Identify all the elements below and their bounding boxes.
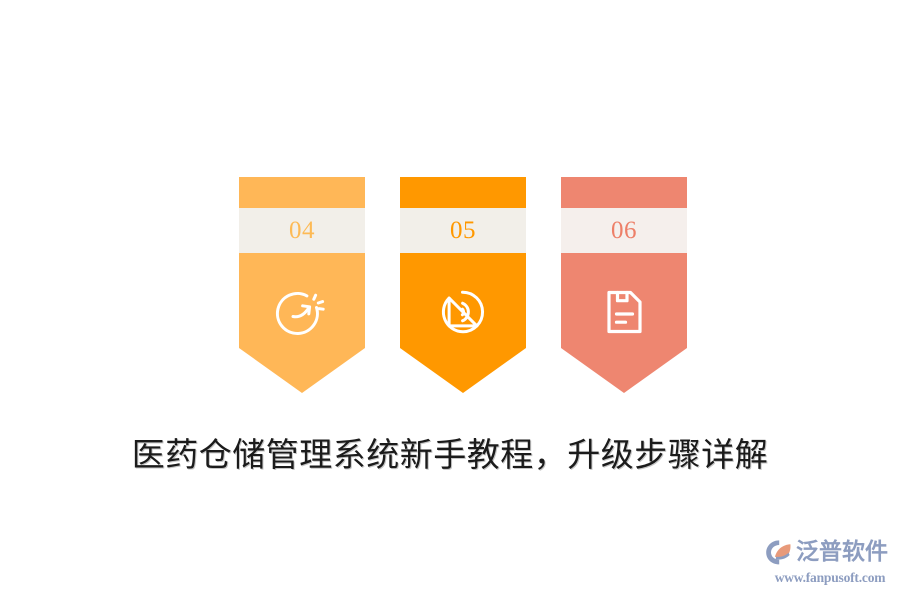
banner-number-band: 06 [561,208,687,253]
watermark-brand-row: 泛普软件 [764,536,896,568]
page-title: 医药仓储管理系统新手教程，升级步骤详解 [0,434,900,478]
watermark-brand-text: 泛普软件 [796,541,888,564]
banner-number: 04 [289,218,315,243]
document-file-icon [561,281,687,343]
banner-step-04[interactable]: 04 [239,177,365,393]
watermark: 泛普软件 www.fanpusoft.com [764,536,896,588]
play-signal-circle-icon [400,281,526,343]
banner-row: 04 05 [0,177,900,397]
banner-step-05[interactable]: 05 [400,177,526,393]
slide-canvas: 04 05 [0,0,900,600]
banner-number-band: 04 [239,208,365,253]
banner-number: 05 [450,218,476,243]
watermark-url-text: www.fanpusoft.com [764,570,896,586]
growth-arrow-circle-icon [239,281,365,343]
banner-number-band: 05 [400,208,526,253]
banner-step-06[interactable]: 06 [561,177,687,393]
banner-number: 06 [611,218,637,243]
fanpu-logo-icon [764,538,794,566]
